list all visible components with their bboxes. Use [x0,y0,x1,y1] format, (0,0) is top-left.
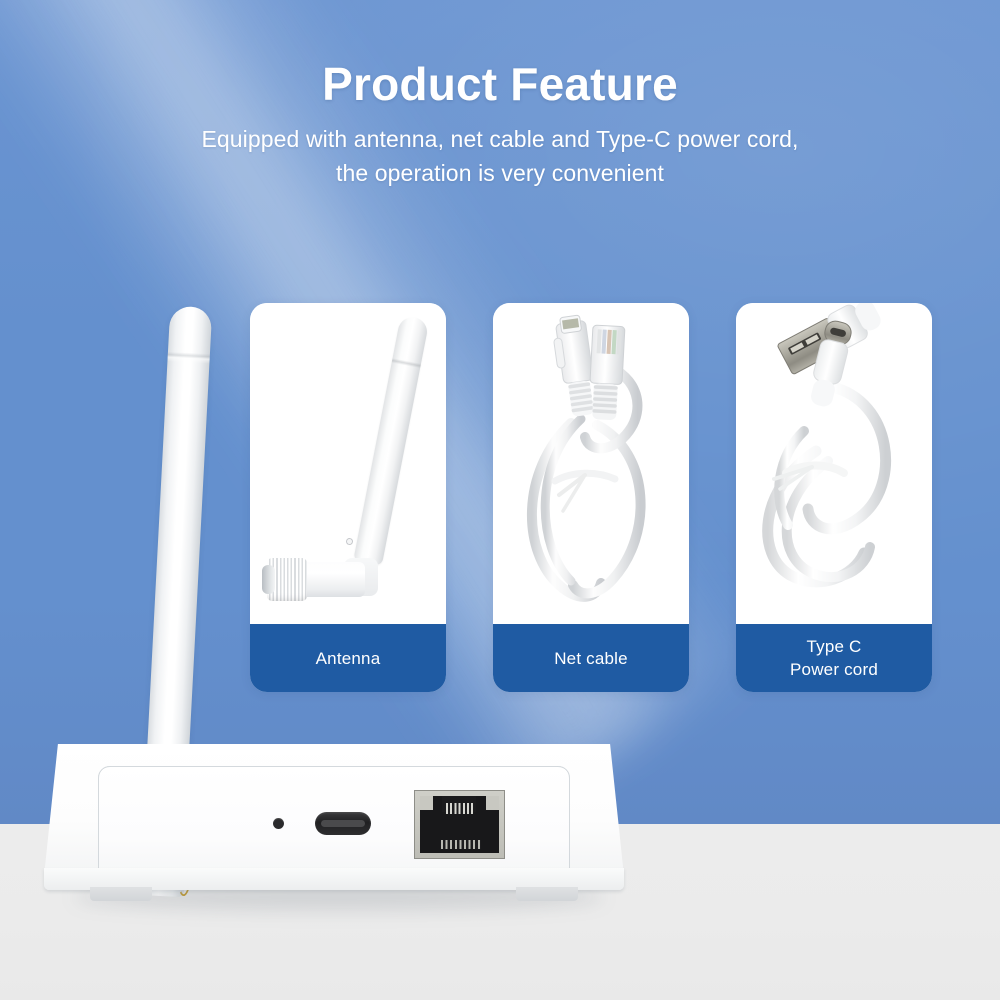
accessory-card-label-antenna: Antenna [250,624,446,692]
accessory-label-line-1: Antenna [316,647,381,670]
reset-pinhole[interactable] [273,818,284,829]
accessory-card-label-type-c-power-cord: Type C Power cord [736,624,932,692]
wireless-router [44,744,624,912]
accessory-card-type-c-power-cord[interactable]: Type C Power cord [736,303,932,692]
accessory-card-label-net-cable: Net cable [493,624,689,692]
accessory-label-line-1: Net cable [554,647,628,670]
accessory-label-line-1: Type C [806,635,861,658]
type-c-power-cord-photo [736,303,932,624]
rj45-ethernet-port[interactable] [415,791,504,858]
net-cable-illustration [493,303,689,624]
antenna-photo [250,303,446,624]
rj45-corner-left [420,796,433,810]
antenna-connector-tip-icon [262,565,275,594]
rj45-corner-right [486,796,499,810]
rj45-lower-contacts [441,840,481,849]
antenna-rod-icon [353,315,429,566]
router-foot-left [90,887,152,901]
rj45-contact-pins [446,803,473,814]
net-cable-photo [493,303,689,624]
product-feature-banner: Product Feature Equipped with antenna, n… [0,0,1000,1000]
router-foot-right [516,887,578,901]
accessory-card-net-cable[interactable]: Net cable [493,303,689,692]
accessory-label-line-2: Power cord [790,658,878,681]
router-body [44,744,624,876]
usb-c-port[interactable] [315,812,371,835]
accessory-card-antenna[interactable]: Antenna [250,303,446,692]
antenna-rod-marker-icon [345,537,353,545]
accessory-card-list: Antenna [250,303,932,692]
type-c-cable-illustration [736,303,932,624]
